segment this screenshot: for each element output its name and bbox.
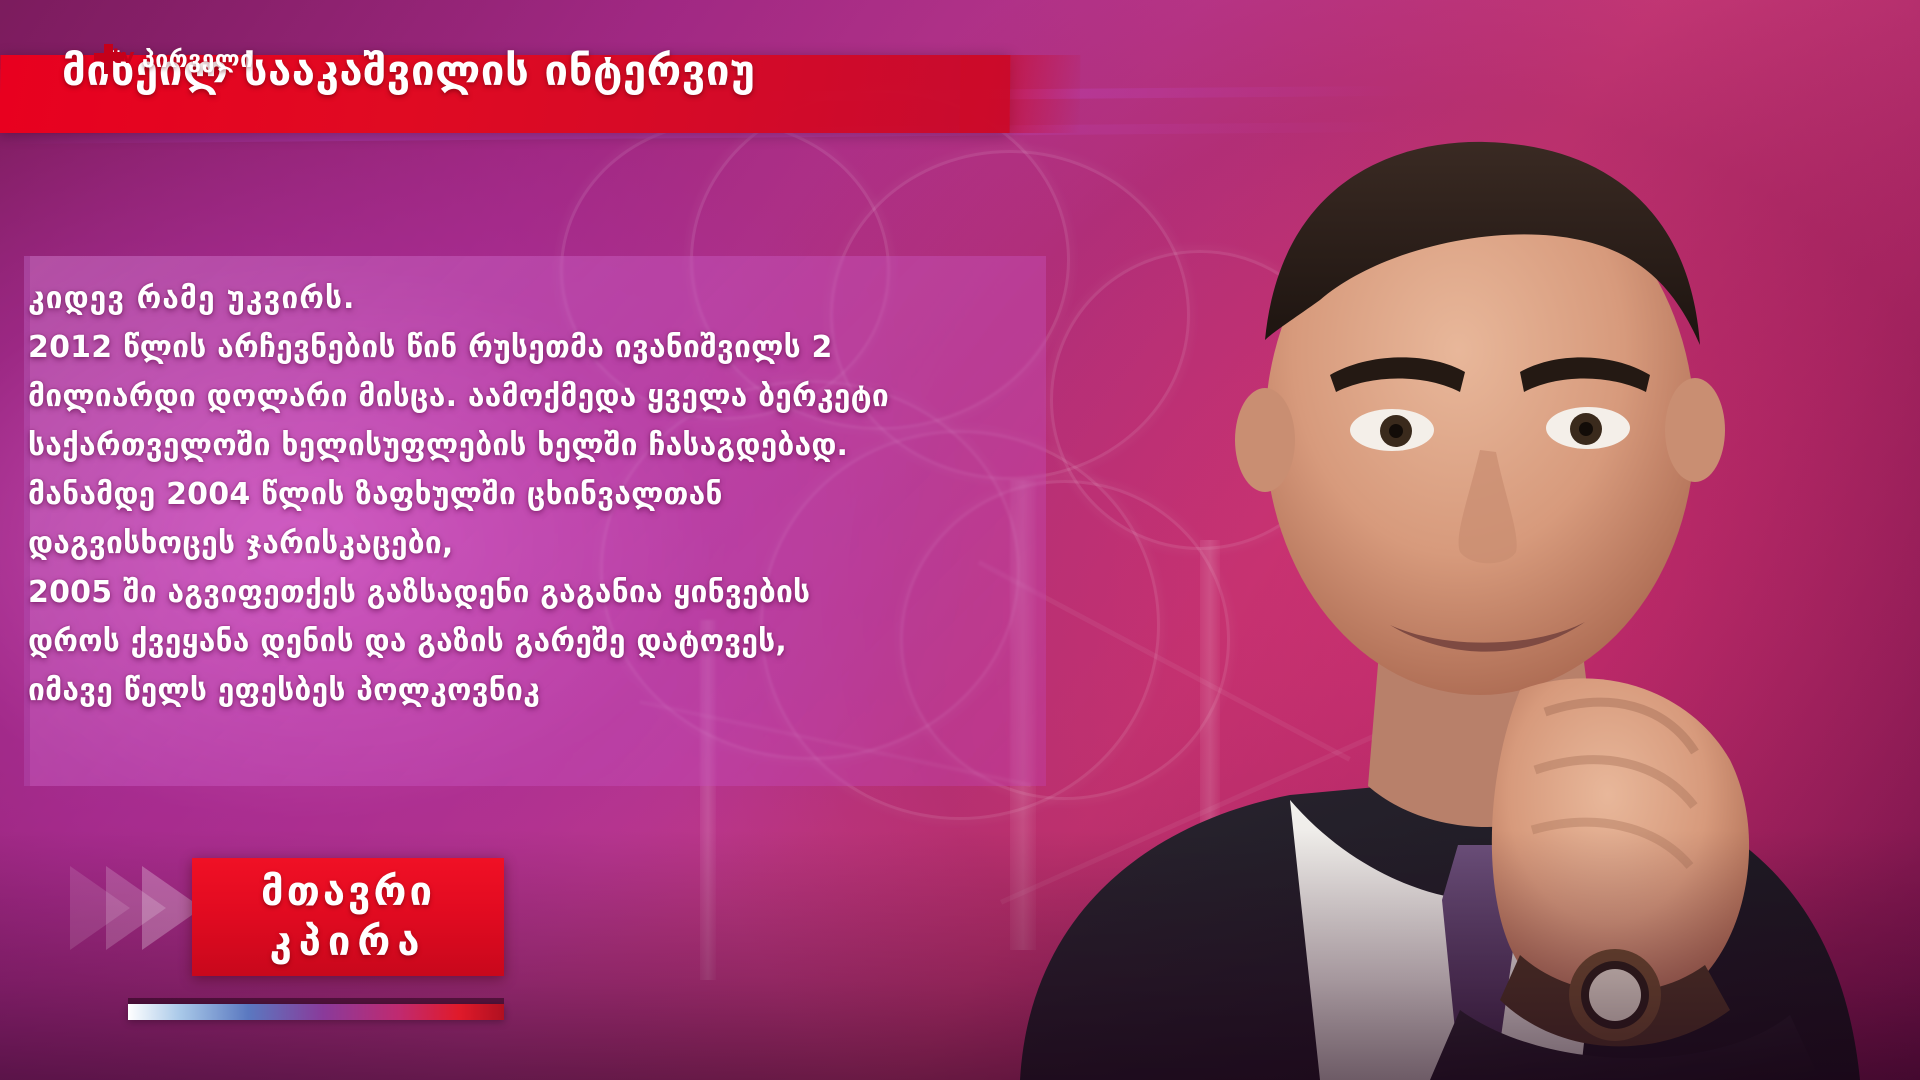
program-logo-plate: მთავრი კპირა: [192, 858, 504, 976]
program-logo-line1: მთავრი: [261, 867, 435, 917]
channel-name-label: პირველი: [142, 49, 254, 74]
quote-line: დაგვისხოცეს ჯარისკაცები,: [28, 519, 1028, 568]
quote-line: მილიარდი დოლარი მისცა. აამოქმედა ყველა ბ…: [28, 372, 1028, 421]
channel-logo: tv პირველი: [92, 44, 254, 74]
logo-color-bar: [128, 1004, 504, 1020]
broadcast-stage: tv პირველი მიხეილ სააკაშვილის ინტერვიუ კ…: [0, 0, 1920, 1080]
quote-line: 2005 ში აგვიფეთქეს გაზსადენი გაგანია ყინ…: [28, 568, 1028, 617]
program-logo-line2: კპირა: [270, 917, 427, 967]
quote-line: იმავე წელს ეფესბეს პოლკოვნიკ: [28, 666, 1028, 715]
quote-text: კიდევ რამე უკვირს. 2012 წლის არჩევნების …: [28, 274, 1028, 715]
program-logo: მთავრი კპირა: [60, 840, 540, 1020]
quote-line: მანამდე 2004 წლის ზაფხულში ცხინვალთან: [28, 470, 1028, 519]
tv-plus-icon: tv: [92, 44, 136, 74]
quote-line: 2012 წლის არჩევნების წინ რუსეთმა ივანიშვ…: [28, 323, 1028, 372]
program-logo-text: მთავრი კპირა: [192, 858, 504, 976]
quote-line: დროს ქვეყანა დენის და გაზის გარეშე დატოვ…: [28, 617, 1028, 666]
barbed-wire-coil: [1050, 250, 1350, 550]
fence-post: [1200, 540, 1220, 960]
fence-brace: [1000, 729, 1386, 904]
quote-line: კიდევ რამე უკვირს.: [28, 274, 1028, 323]
subject-portrait: [960, 0, 1920, 1080]
quote-line: საქართველოში ხელისუფლების ხელში ჩასაგდებ…: [28, 421, 1028, 470]
